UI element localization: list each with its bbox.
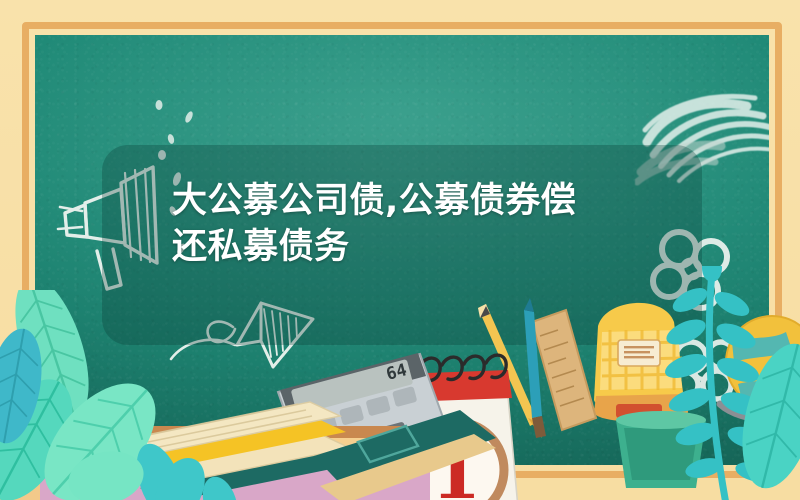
leaf-cluster-right [640, 266, 800, 500]
cover-image-canvas: 大公募公司债,公募债券偿 还私募债务 [0, 0, 800, 500]
page-title: 大公募公司债,公募债券偿 还私募债务 [172, 178, 642, 270]
page-title-line-1: 大公募公司债,公募债券偿 [172, 178, 642, 224]
leaf-cluster-bottom [60, 420, 260, 500]
page-title-line-2: 还私募债务 [172, 224, 642, 270]
desk-scene: 64 1 [0, 300, 800, 500]
teal-notebook [300, 400, 500, 500]
